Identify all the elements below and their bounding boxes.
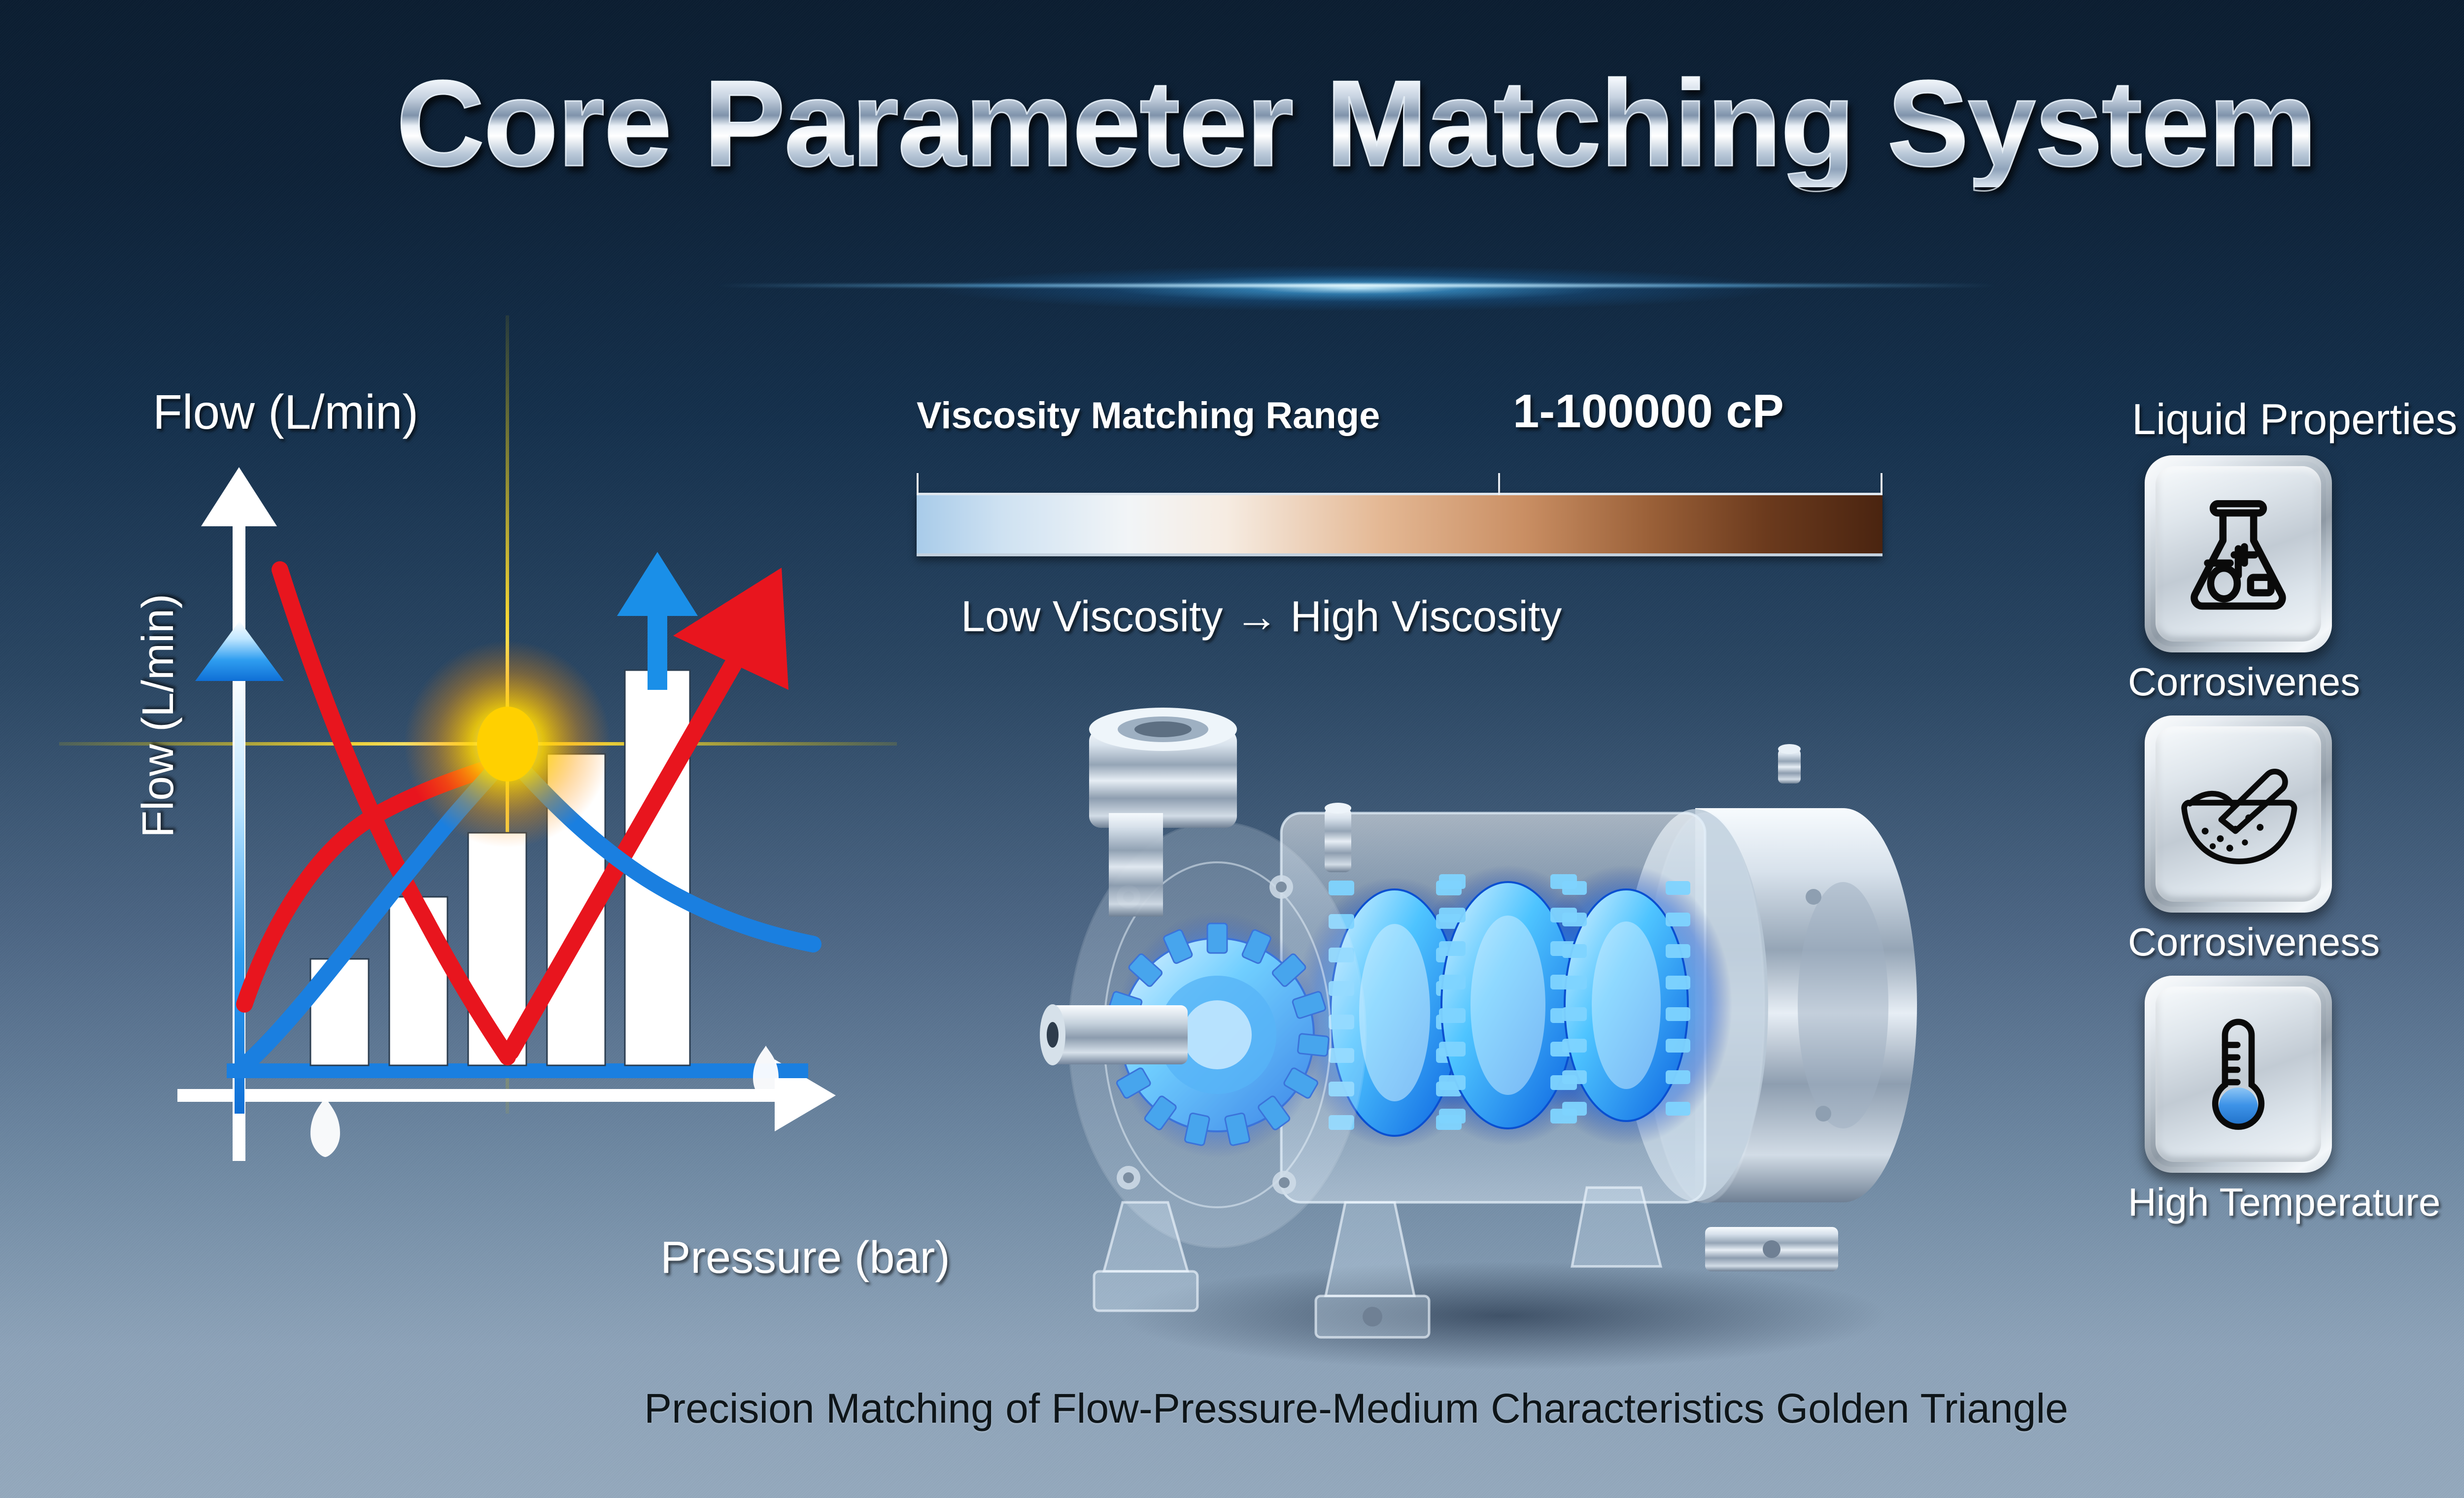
- property-item-high-temperature[interactable]: High Temperature: [2124, 976, 2464, 1225]
- liquid-properties-panel: Liquid Properties Corrosivenes: [2124, 394, 2464, 1225]
- pump-illustration: [1005, 690, 2016, 1390]
- footer-caption: Precision Matching of Flow-Pressure-Medi…: [0, 1385, 2464, 1432]
- thermometer-icon: [2177, 1008, 2300, 1141]
- flow-pressure-chart: [148, 458, 887, 1227]
- droplet-marker-left: [310, 1097, 340, 1157]
- viscosity-gradient-bar: [917, 493, 1882, 556]
- property-label-corrosivenes: Corrosivenes: [2128, 659, 2464, 705]
- property-item-corrosivenes[interactable]: Corrosivenes: [2124, 455, 2464, 705]
- blue-arrow-above-tallest-bar: [617, 552, 698, 690]
- title-glow-line: [716, 284, 1997, 287]
- droplet-marker-right: [753, 1046, 779, 1100]
- property-label-high-temperature: High Temperature: [2128, 1180, 2464, 1225]
- liquid-properties-heading: Liquid Properties: [2132, 394, 2464, 444]
- flask-icon: [2177, 487, 2300, 620]
- motor-foot: [1705, 1227, 1838, 1271]
- chart-y-axis-label: Flow (L/min): [133, 594, 184, 838]
- foot-bolt: [1363, 1307, 1382, 1327]
- vent-pin: [1325, 803, 1351, 872]
- viscosity-gradient-fill: [917, 495, 1882, 553]
- gear-3: [1439, 874, 1577, 1128]
- thermometer-icon-tile[interactable]: [2145, 976, 2332, 1173]
- viscosity-heading: Viscosity Matching Range: [917, 394, 1380, 437]
- mortar-pestle-icon-tile[interactable]: [2145, 715, 2332, 913]
- page-title-wrapper: Core Parameter Matching System: [0, 59, 2464, 187]
- viscosity-range-value: 1-100000 cP: [1513, 384, 1784, 439]
- flask-icon-tile[interactable]: [2145, 455, 2332, 652]
- page-title: Core Parameter Matching System: [396, 59, 2316, 187]
- golden-intersection-point: [477, 707, 538, 782]
- infographic-canvas: Core Parameter Matching System Flow (L/m…: [0, 0, 2464, 1498]
- title-glow-flare: [765, 256, 1948, 320]
- pump-floor-shadow: [1119, 1261, 1887, 1370]
- drive-shaft: [1040, 1004, 1188, 1065]
- property-label-corrosiveness: Corrosiveness: [2128, 919, 2464, 965]
- chart-top-flow-label: Flow (L/min): [153, 384, 418, 440]
- mortar-pestle-icon: [2177, 748, 2300, 881]
- property-item-corrosiveness[interactable]: Corrosiveness: [2124, 715, 2464, 965]
- viscosity-scale-caption: Low Viscosity → High Viscosity: [961, 591, 1562, 642]
- chart-x-axis-label: Pressure (bar): [660, 1232, 950, 1284]
- gear-4: [1562, 881, 1690, 1121]
